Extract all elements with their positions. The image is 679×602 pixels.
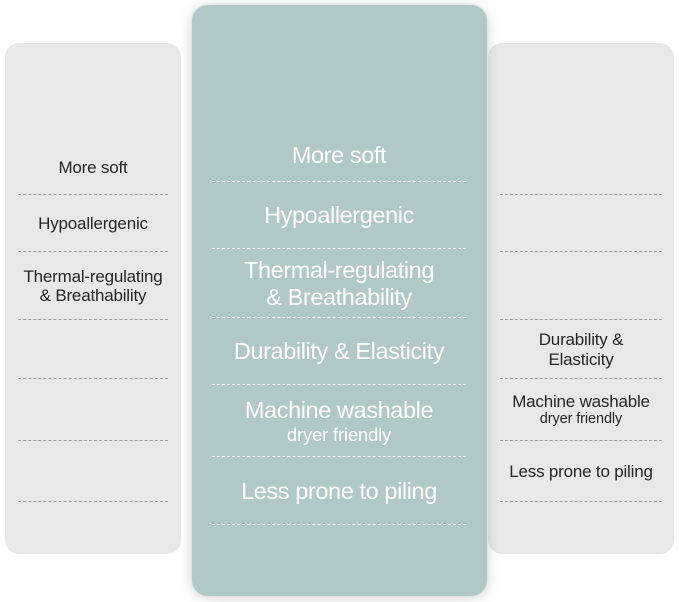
feature-row [18, 320, 168, 379]
feature-label: More soft [58, 158, 127, 177]
comparison-infographic: 100% Bamboo More softHypoallergenicTherm… [0, 0, 679, 602]
feature-row: Less prone to piling [212, 457, 466, 525]
feature-list-cotton: Durability &ElasticityMachine washabledr… [500, 140, 662, 502]
feature-label: Hypoallergenic [38, 214, 148, 233]
feature-label: Less prone to piling [241, 478, 437, 504]
feature-label: Machine washable [245, 397, 433, 423]
feature-row: Hypoallergenic [212, 182, 466, 249]
row-separator [500, 501, 662, 502]
feature-row: Machine washabledryer friendly [212, 385, 466, 457]
feature-label: Durability & Elasticity [234, 338, 444, 364]
feature-label: Thermal-regulating& Breathability [23, 267, 162, 305]
feature-row: Hypoallergenic [18, 195, 168, 252]
feature-list-bamboo: More softHypoallergenicThermal-regulatin… [18, 140, 168, 502]
feature-row: Thermal-regulating& Breathability [212, 249, 466, 318]
feature-row: Durability & Elasticity [212, 318, 466, 385]
feature-list-blend: More softHypoallergenicThermal-regulatin… [212, 128, 466, 525]
feature-row: Durability &Elasticity [500, 320, 662, 379]
feature-sublabel: dryer friendly [540, 411, 622, 428]
feature-row: More soft [18, 140, 168, 195]
feature-row [18, 441, 168, 502]
feature-label: Less prone to piling [509, 462, 652, 481]
feature-row: More soft [212, 128, 466, 182]
feature-row: Machine washabledryer friendly [500, 379, 662, 441]
feature-row [18, 379, 168, 441]
feature-sublabel: dryer friendly [287, 424, 391, 445]
feature-row [500, 252, 662, 320]
feature-label: Hypoallergenic [264, 202, 414, 228]
feature-label: More soft [292, 142, 386, 168]
feature-label: Durability &Elasticity [539, 330, 624, 368]
feature-row [500, 195, 662, 252]
feature-label: Machine washable [512, 392, 650, 411]
feature-row: Thermal-regulating& Breathability [18, 252, 168, 320]
feature-row: Less prone to piling [500, 441, 662, 502]
row-separator [212, 524, 466, 525]
feature-label: Thermal-regulating& Breathability [244, 257, 434, 310]
feature-row [500, 140, 662, 195]
row-separator [18, 501, 168, 502]
